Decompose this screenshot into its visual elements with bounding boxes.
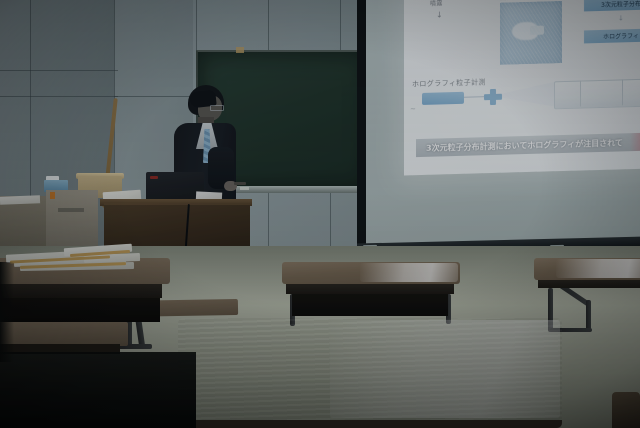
chair-left-foreground bbox=[0, 322, 128, 346]
projected-slide: 噴霧 ↓ 流体の可視化 3次元粒子分布 ↓ ホログラフィ ホログラフィ粒子計測 … bbox=[404, 0, 640, 175]
diagram-seam bbox=[580, 81, 581, 107]
wall-seam bbox=[268, 185, 269, 250]
diagram-laser-source bbox=[422, 92, 464, 105]
desk-leg bbox=[586, 300, 591, 330]
storage-cabinet-right bbox=[46, 190, 98, 250]
slide-spray-label: 噴霧 bbox=[430, 0, 443, 8]
slide-box-arrow-icon: ↓ bbox=[618, 14, 624, 22]
slide-conclusion-banner: 3次元粒子分布計測においてホログラフィが注目されて bbox=[416, 133, 640, 158]
foreground-shadow-mass bbox=[0, 352, 196, 428]
slide-holography-section-label: ホログラフィ粒子計測 bbox=[412, 77, 486, 89]
diagram-optical-tube bbox=[554, 79, 640, 110]
diagram-beam-splitter bbox=[484, 89, 502, 106]
cabinet-slot bbox=[58, 208, 84, 212]
laptop-logo-icon bbox=[150, 176, 158, 179]
desk-edge bbox=[178, 420, 562, 428]
diagram-beam-line bbox=[464, 96, 486, 98]
desk-back-right bbox=[534, 258, 640, 280]
papers-on-cabinet bbox=[0, 195, 40, 204]
left-edge-shadow bbox=[0, 262, 14, 362]
orange-folder-tab bbox=[50, 192, 55, 199]
spray-plume-shape bbox=[512, 22, 538, 41]
desk-shelf bbox=[0, 296, 160, 322]
desk-front-panel bbox=[0, 282, 162, 298]
slide-blue-box-1: 3次元粒子分布 bbox=[584, 0, 640, 11]
wall-seam bbox=[0, 96, 118, 97]
wall-seam bbox=[0, 70, 118, 71]
desk-wood-grain bbox=[178, 318, 562, 428]
laser-pointer bbox=[234, 182, 246, 185]
wall-seam bbox=[340, 0, 341, 52]
banner-accent bbox=[630, 133, 640, 152]
diagram-expanded-beam bbox=[502, 81, 558, 109]
slide-blue-box-2: ホログラフィ bbox=[584, 28, 640, 43]
slide-tilde-mark: ~ bbox=[410, 105, 416, 113]
desk-back-left bbox=[282, 262, 460, 284]
wall-seam bbox=[330, 185, 331, 250]
chair-right-foreground bbox=[612, 392, 640, 428]
classroom-photo-scene: 噴霧 ↓ 流体の可視化 3次元粒子分布 ↓ ホログラフィ ホログラフィ粒子計測 … bbox=[0, 0, 640, 428]
slide-down-arrow-icon: ↓ bbox=[436, 10, 443, 19]
diagram-seam bbox=[622, 79, 623, 105]
splitter-horizontal bbox=[484, 94, 502, 101]
wall-seam bbox=[268, 0, 269, 56]
slide-spray-photo bbox=[500, 1, 562, 65]
desk-shelf bbox=[292, 294, 448, 316]
slide-banner-text: 3次元粒子分布計測においてホログラフィが注目されて bbox=[416, 137, 623, 154]
spray-nozzle-shape bbox=[530, 26, 544, 35]
board-clip bbox=[236, 47, 244, 53]
glasses-icon bbox=[210, 105, 224, 111]
